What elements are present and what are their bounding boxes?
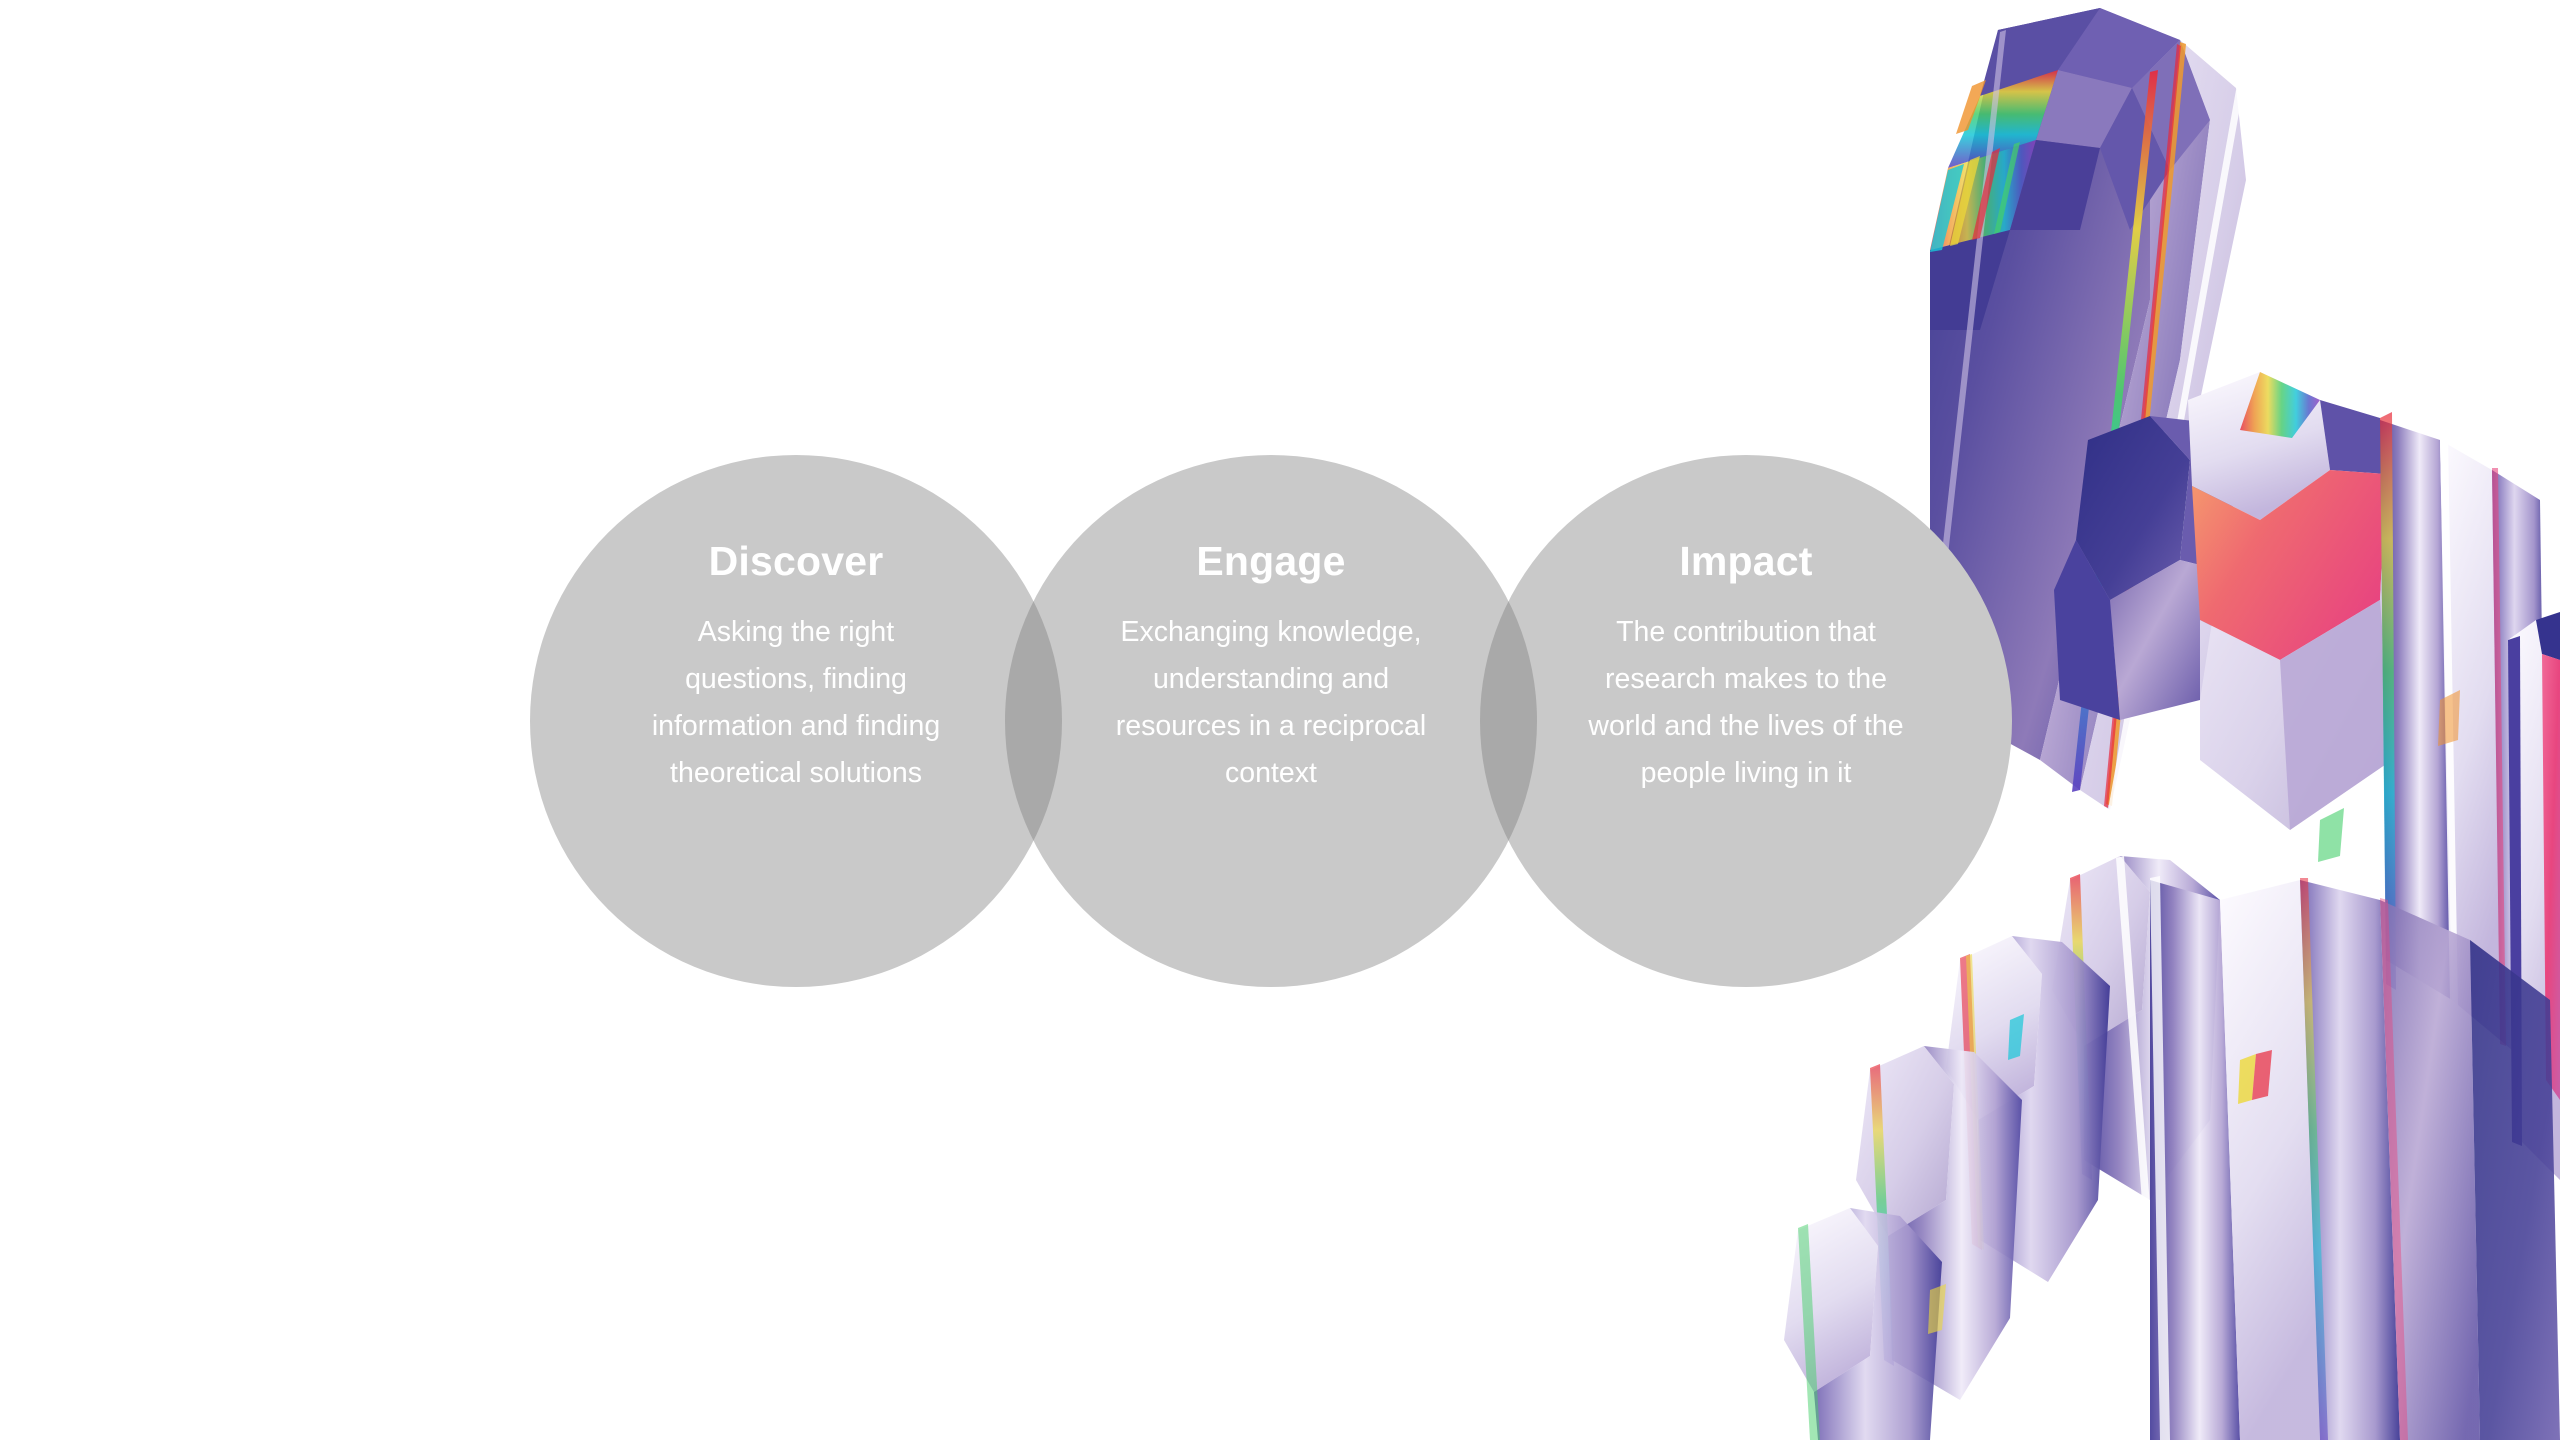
venn-node-discover: Discover Asking the right questions, fin… [530,455,1062,987]
venn-node-impact: Impact The contribution that research ma… [1480,455,2012,987]
venn-description-engage: Exchanging knowledge, understanding and … [1101,609,1441,797]
venn-node-engage: Engage Exchanging knowledge, understandi… [1005,455,1537,987]
venn-title-discover: Discover [709,541,884,582]
slide-canvas: Discover Asking the right questions, fin… [0,0,2560,1440]
venn-description-discover: Asking the right questions, finding info… [636,609,956,797]
venn-diagram: Discover Asking the right questions, fin… [530,455,2012,987]
venn-title-engage: Engage [1196,541,1345,582]
venn-title-impact: Impact [1679,541,1812,582]
venn-description-impact: The contribution that research makes to … [1581,609,1911,797]
